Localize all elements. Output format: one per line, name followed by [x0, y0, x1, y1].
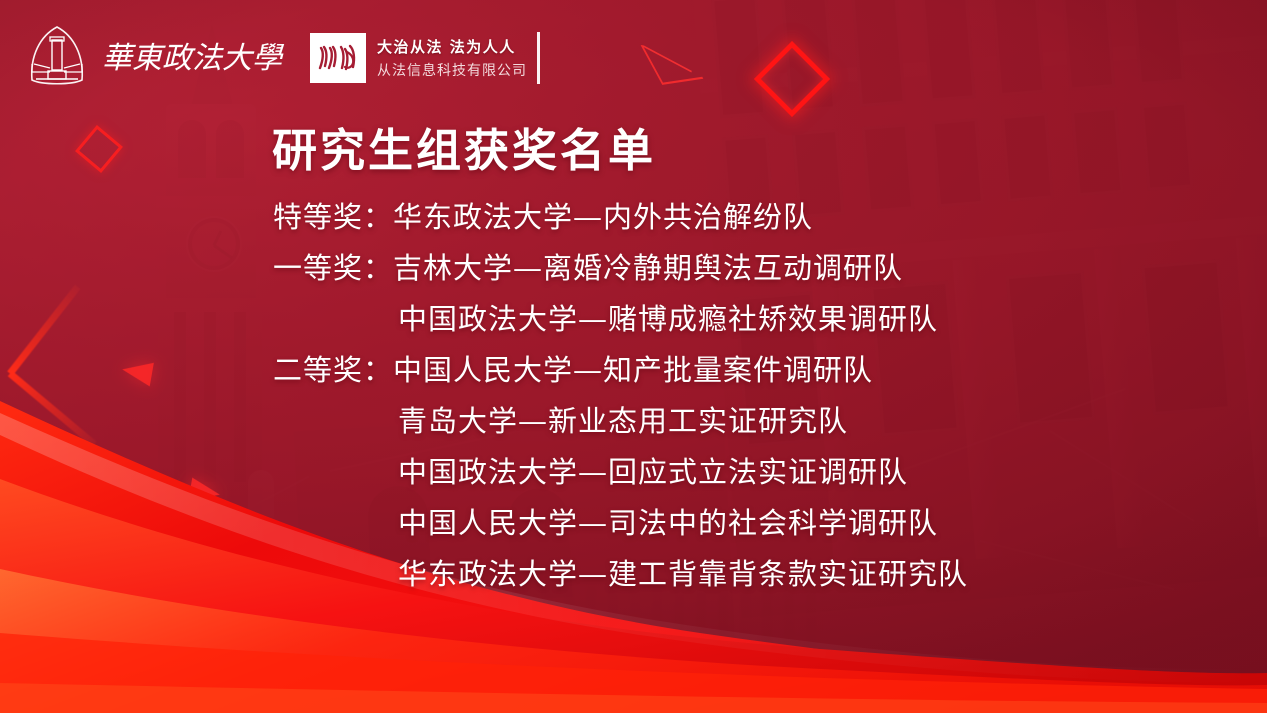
- award-level-label: 特等奖：: [273, 194, 393, 236]
- page-title: 研究生组获奖名单: [272, 114, 656, 179]
- university-logo-group: 華東政法大學: [26, 24, 288, 88]
- award-team-name: 中国政法大学—赌博成瘾社矫效果调研队: [398, 296, 938, 338]
- award-line: 青岛大学—新业态用工实证研究队: [0, 398, 1267, 440]
- award-line: 特等奖：华东政法大学—内外共治解纷队: [0, 194, 1267, 236]
- award-line: 二等奖：中国人民大学—知产批量案件调研队: [0, 347, 1267, 389]
- award-team-name: 中国人民大学—知产批量案件调研队: [393, 347, 873, 389]
- award-team-name: 华东政法大学—内外共治解纷队: [393, 194, 813, 236]
- award-team-name: 青岛大学—新业态用工实证研究队: [398, 398, 848, 440]
- award-line: 华东政法大学—建工背靠背条款实证研究队: [0, 551, 1267, 593]
- award-line: 中国政法大学—赌博成瘾社矫效果调研队: [0, 296, 1267, 338]
- award-line: 中国人民大学—司法中的社会科学调研队: [0, 500, 1267, 542]
- award-team-name: 吉林大学—离婚冷静期舆法互动调研队: [393, 245, 903, 287]
- award-team-name: 中国政法大学—回应式立法实证调研队: [398, 449, 908, 491]
- sponsor-company-name: 从法信息科技有限公司: [377, 60, 527, 80]
- sponsor-logo-group: 大治从法 法为人人 从法信息科技有限公司: [310, 33, 527, 83]
- congfa-calligraphy-mark-icon: [310, 33, 366, 83]
- award-line: 中国政法大学—回应式立法实证调研队: [0, 449, 1267, 491]
- poster-canvas: 華東政法大學: [0, 0, 1267, 713]
- sponsor-text-block: 大治从法 法为人人 从法信息科技有限公司: [377, 36, 527, 80]
- svg-text:華東政法大學: 華東政法大學: [102, 41, 285, 76]
- poster-header: 華東政法大學: [0, 0, 1267, 110]
- award-level-label: 一等奖：: [273, 245, 393, 287]
- award-line: 一等奖：吉林大学—离婚冷静期舆法互动调研队: [0, 245, 1267, 287]
- award-level-label: 二等奖：: [273, 347, 393, 389]
- award-team-name: 中国人民大学—司法中的社会科学调研队: [398, 500, 938, 542]
- university-name: 華東政法大學: [102, 33, 288, 79]
- header-divider: [537, 32, 540, 84]
- sponsor-slogan: 大治从法 法为人人: [377, 36, 527, 57]
- award-team-name: 华东政法大学—建工背靠背条款实证研究队: [398, 551, 968, 593]
- shield-pillar-scales-emblem-icon: [26, 24, 88, 88]
